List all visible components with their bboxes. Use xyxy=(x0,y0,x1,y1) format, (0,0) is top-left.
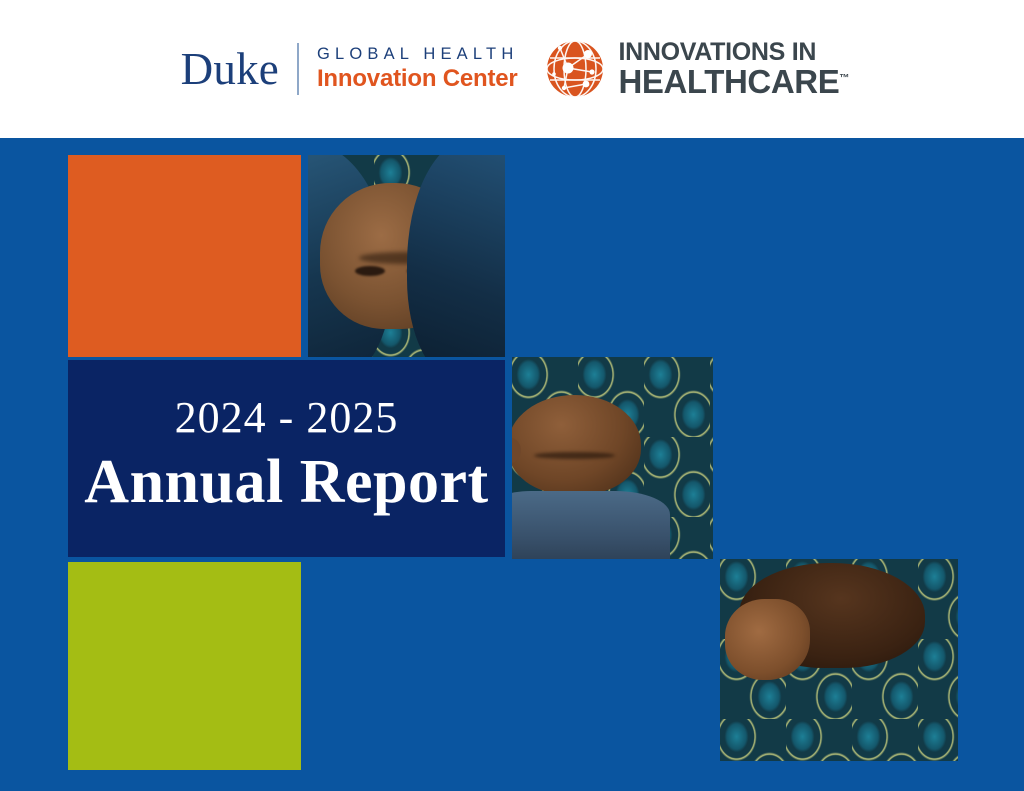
program-line-global-health: GLOBAL HEALTH xyxy=(317,45,518,65)
photo-clinician-upper xyxy=(720,559,958,761)
cover-title: 2024 - 2025 Annual Report xyxy=(68,360,505,557)
report-title: Annual Report xyxy=(84,448,488,516)
duke-wordmark: Duke xyxy=(181,47,297,92)
innovations-in-healthcare-logo: INNOVATIONS IN HEALTHCARE™ xyxy=(544,38,849,100)
annual-report-cover: Duke GLOBAL HEALTH Innovation Center xyxy=(0,0,1024,791)
program-name: GLOBAL HEALTH Innovation Center xyxy=(317,45,518,93)
photo-mother xyxy=(308,155,505,357)
cover-collage: 2024 - 2025 Annual Report xyxy=(0,138,1024,791)
program-line-innovation-center: Innovation Center xyxy=(317,66,518,93)
photo-child xyxy=(512,357,713,559)
orange-accent-block xyxy=(68,155,301,357)
report-year-range: 2024 - 2025 xyxy=(175,395,399,441)
duke-global-health-innovation-center-logo: Duke GLOBAL HEALTH Innovation Center xyxy=(181,43,519,95)
logo-lockup: Duke GLOBAL HEALTH Innovation Center xyxy=(181,38,850,100)
partner-name: INNOVATIONS IN HEALTHCARE™ xyxy=(618,40,849,99)
green-accent-block xyxy=(68,562,301,770)
partner-line-healthcare: HEALTHCARE™ xyxy=(618,65,849,98)
logo-divider xyxy=(297,43,299,95)
partner-healthcare-text: HEALTHCARE xyxy=(618,63,839,100)
header-logo-bar: Duke GLOBAL HEALTH Innovation Center xyxy=(0,0,1024,138)
globe-network-icon xyxy=(544,38,606,100)
navy-title-block: 2024 - 2025 Annual Report xyxy=(68,360,505,557)
partner-line-innovations-in: INNOVATIONS IN xyxy=(618,40,849,66)
trademark-symbol: ™ xyxy=(839,73,849,84)
